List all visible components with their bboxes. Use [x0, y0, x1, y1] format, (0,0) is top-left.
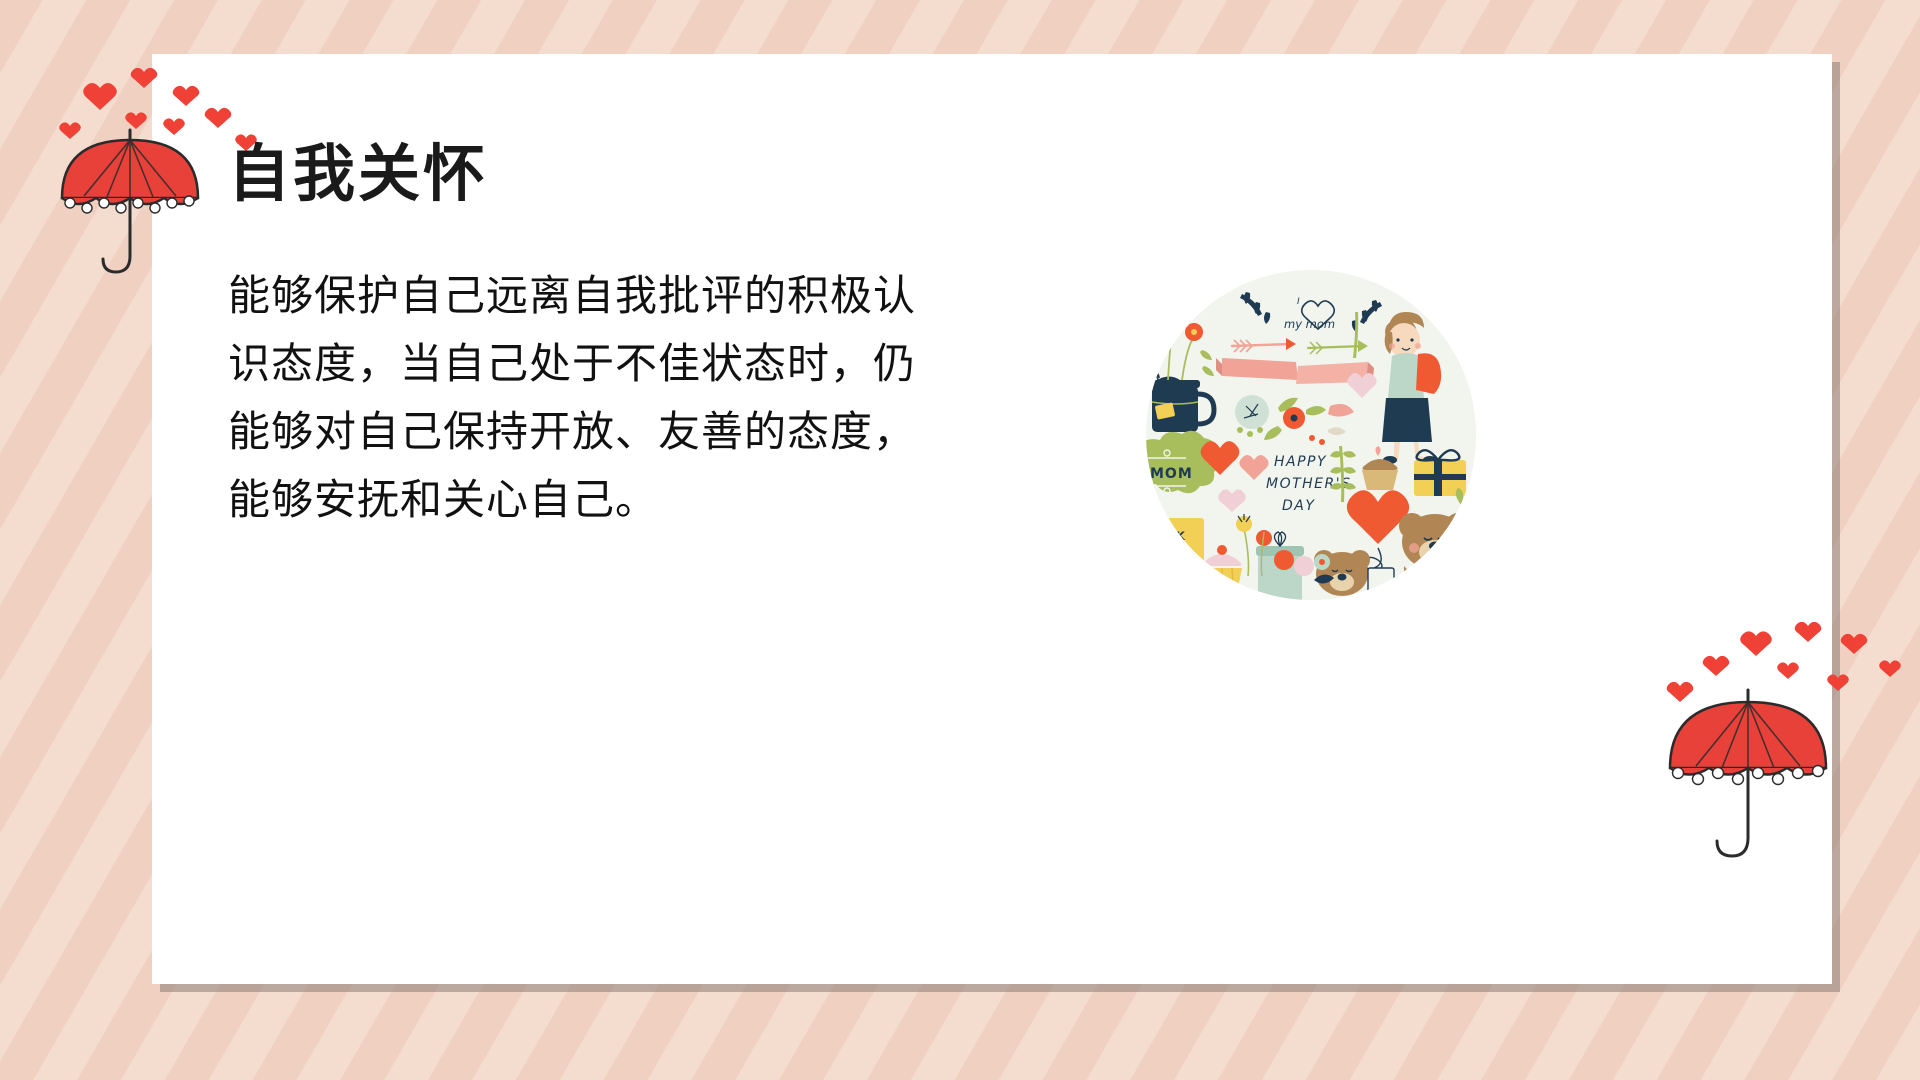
- paragraph-line: 能够安抚和关心自己。: [228, 466, 1058, 534]
- i-label: I: [1297, 297, 1300, 307]
- umbrella-bottom-right-decoration: [1640, 600, 1920, 890]
- mothers-day-illustration: I my mom: [1146, 270, 1476, 600]
- my-mom-label: my mom: [1284, 317, 1335, 331]
- mom-label: MOM: [1150, 466, 1193, 482]
- text-block: 自我关怀 能够保护自己远离自我批评的积极认 识态度，当自己处于不佳状态时，仍 能…: [228, 140, 1108, 534]
- paragraph-line: 能够对自己保持开放、友善的态度，: [228, 398, 1058, 466]
- paragraph-line: 能够保护自己远离自我批评的积极认: [228, 262, 1058, 330]
- happy-label: HAPPY: [1274, 454, 1327, 470]
- day-label: DAY: [1282, 498, 1315, 514]
- paragraph-line: 识态度，当自己处于不佳状态时，仍: [228, 330, 1058, 398]
- body-paragraph: 能够保护自己远离自我批评的积极认 识态度，当自己处于不佳状态时，仍 能够对自己保…: [228, 262, 1058, 534]
- page-title: 自我关怀: [228, 140, 1108, 208]
- hearts-cluster-icon: [1667, 622, 1901, 702]
- umbrella-icon: [62, 130, 198, 272]
- umbrella-icon: [1670, 690, 1826, 856]
